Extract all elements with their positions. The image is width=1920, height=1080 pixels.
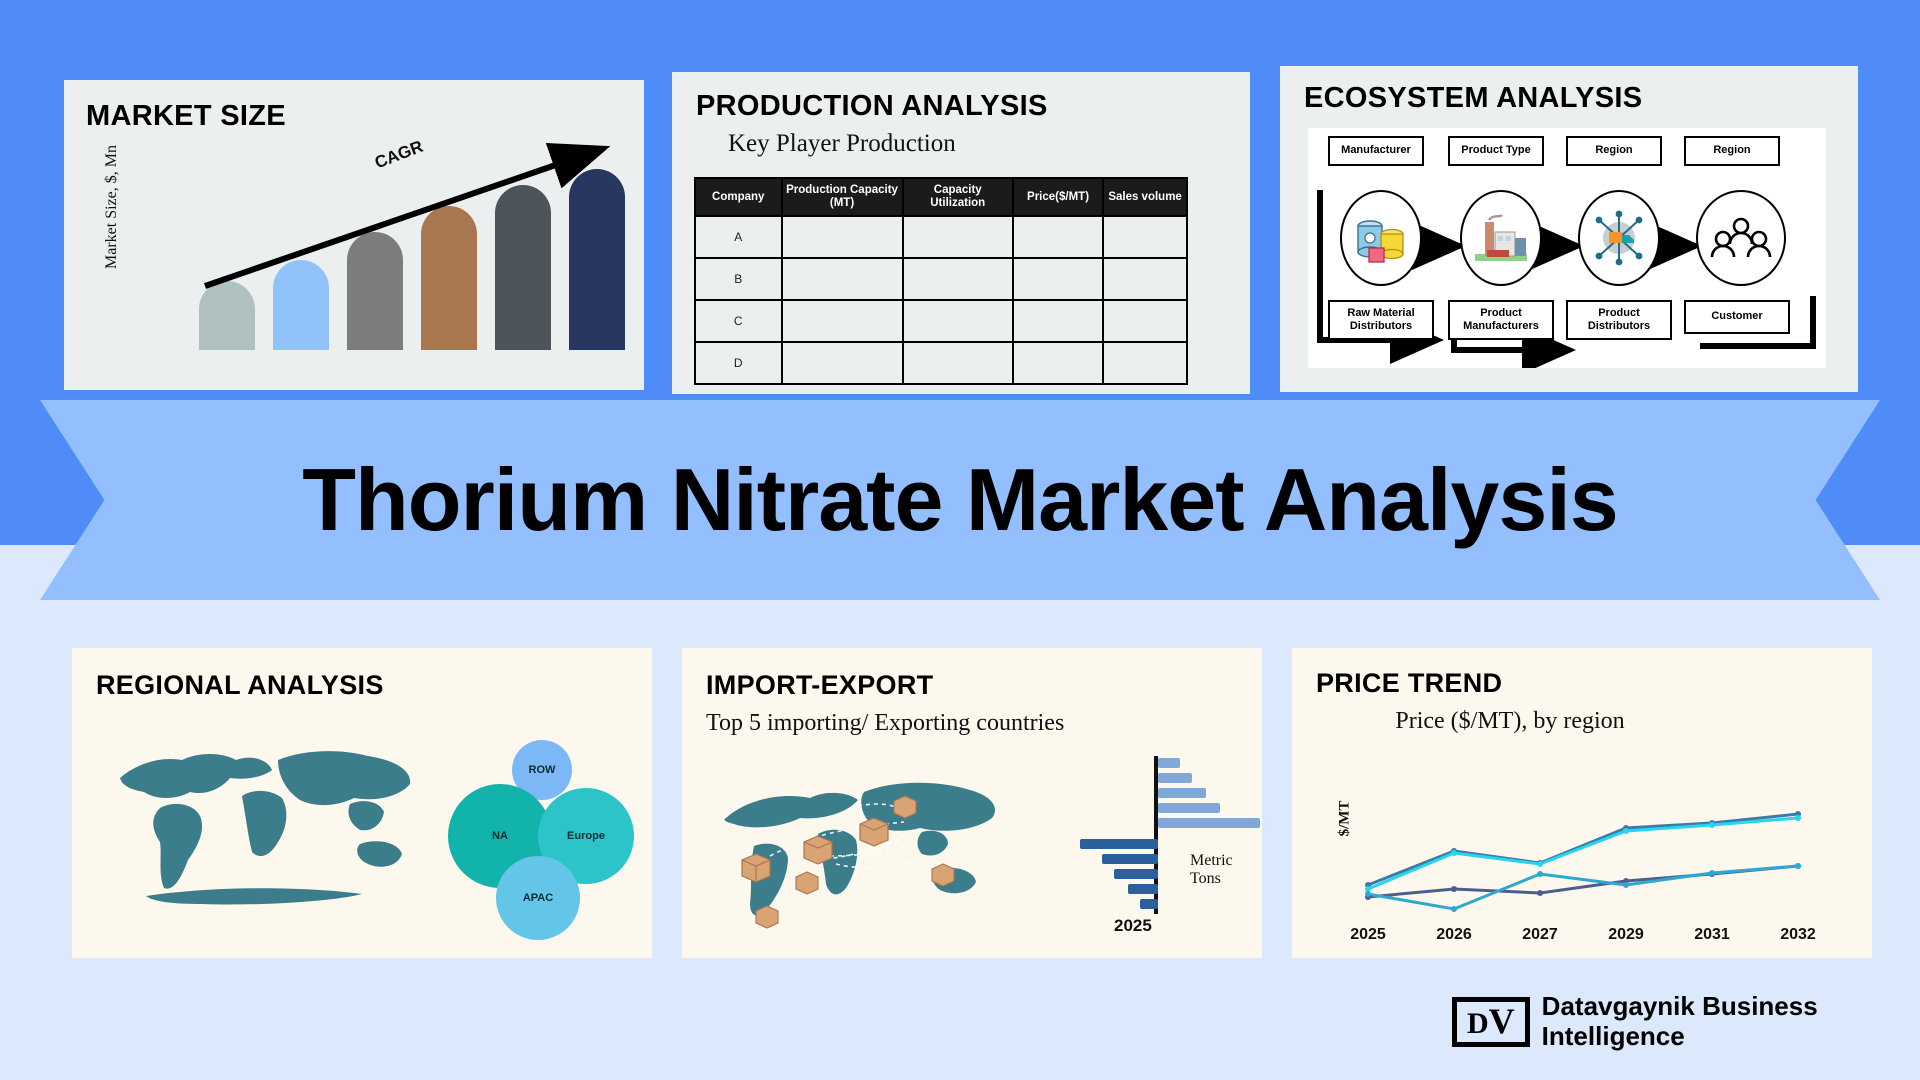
column-header-sales: Sales volume	[1103, 178, 1187, 216]
eco-bottom-label-raw-material-distributors: Raw Material Distributors	[1328, 300, 1434, 340]
price-trend-y-axis-label: $/MT	[1337, 774, 1354, 864]
column-header-price: Price($/MT)	[1013, 178, 1103, 216]
eco-top-label-region-2: Region	[1684, 136, 1780, 166]
cell-utilization	[903, 216, 1013, 258]
cell-company: B	[695, 258, 782, 300]
price-trend-title: PRICE TREND	[1316, 668, 1502, 699]
cell-company: C	[695, 300, 782, 342]
eco-bottom-label-product-manufacturers: Product Manufacturers	[1448, 300, 1554, 340]
distribution-network-icon	[1578, 190, 1660, 286]
market-size-panel: MARKET SIZE Market Size, $, Mn CAGR 2025…	[64, 80, 644, 390]
cell-sales	[1103, 300, 1187, 342]
market-size-plot: CAGR	[199, 150, 629, 350]
cell-company: D	[695, 342, 782, 384]
tornado-bar-export	[1158, 758, 1180, 768]
bubble-label: NA	[492, 830, 508, 842]
logo-letter-d: D	[1467, 1007, 1489, 1040]
table-row: C	[695, 300, 1187, 342]
import-export-tornado-chart: Metric Tons 2025	[1072, 756, 1262, 926]
tornado-bar-import	[1128, 884, 1158, 894]
column-header-utilization: Capacity Utilization	[903, 178, 1013, 216]
page-title: Thorium Nitrate Market Analysis	[302, 449, 1617, 551]
x-tick: 2031	[1677, 926, 1747, 944]
cell-utilization	[903, 342, 1013, 384]
column-header-company: Company	[695, 178, 782, 216]
tornado-bar-import	[1140, 899, 1158, 909]
production-analysis-title: PRODUCTION ANALYSIS	[696, 90, 1048, 123]
eco-top-label-manufacturer: Manufacturer	[1328, 136, 1424, 166]
cell-price	[1013, 258, 1103, 300]
market-size-y-axis-label: Market Size, $, Mn	[103, 117, 121, 297]
logo-letter-v: V	[1489, 1001, 1515, 1041]
eco-bottom-label-product-distributors: Product Distributors	[1566, 300, 1672, 340]
world-map-icon	[102, 726, 442, 926]
x-tick: 2025	[1333, 926, 1403, 944]
bubble-label: Europe	[567, 830, 605, 842]
bubble-label: APAC	[523, 892, 553, 904]
price-trend-panel: PRICE TREND Price ($/MT), by region $/MT…	[1292, 648, 1872, 958]
ecosystem-analysis-title: ECOSYSTEM ANALYSIS	[1304, 82, 1642, 115]
tornado-bar-export	[1158, 773, 1192, 783]
logo-line-1: Datavgaynik Business	[1542, 992, 1818, 1022]
trade-routes-map-icon	[708, 760, 1028, 930]
x-tick: 2027	[1505, 926, 1575, 944]
bubble-label: ROW	[529, 764, 556, 776]
tornado-bar-import	[1102, 854, 1158, 864]
table-row: B	[695, 258, 1187, 300]
table-row: A	[695, 216, 1187, 258]
eco-top-label-region-1: Region	[1566, 136, 1662, 166]
cell-utilization	[903, 300, 1013, 342]
column-header-capacity: Production Capacity (MT)	[782, 178, 903, 216]
logo-mark-dv: DV	[1452, 997, 1530, 1047]
regional-analysis-title: REGIONAL ANALYSIS	[96, 670, 384, 701]
tornado-bar-export	[1158, 788, 1206, 798]
cell-capacity	[782, 216, 903, 258]
cell-sales	[1103, 258, 1187, 300]
ecosystem-analysis-panel: ECOSYSTEM ANALYSIS Manufacturer Product …	[1280, 66, 1858, 392]
tornado-unit-label: Metric Tons	[1190, 852, 1262, 888]
cell-sales	[1103, 342, 1187, 384]
x-tick: 2032	[1763, 926, 1833, 944]
main-title-ribbon: Thorium Nitrate Market Analysis	[40, 400, 1880, 600]
price-trend-line-chart	[1354, 806, 1814, 916]
production-analysis-subtitle: Key Player Production	[728, 130, 956, 158]
import-export-panel: IMPORT-EXPORT Top 5 importing/ Exporting…	[682, 648, 1262, 958]
bubble-apac: APAC	[496, 856, 580, 940]
cagr-arrow-icon	[199, 106, 629, 306]
tornado-year-label: 2025	[1114, 916, 1152, 936]
tornado-bar-import	[1080, 839, 1158, 849]
cell-sales	[1103, 216, 1187, 258]
factory-icon	[1460, 190, 1542, 286]
table-row: D	[695, 342, 1187, 384]
cell-capacity	[782, 300, 903, 342]
tornado-bar-export	[1158, 803, 1220, 813]
logo-line-2: Intelligence	[1542, 1022, 1818, 1052]
cell-capacity	[782, 258, 903, 300]
price-trend-subtitle: Price ($/MT), by region	[1370, 706, 1650, 737]
table-header-row: Company Production Capacity (MT) Capacit…	[695, 178, 1187, 216]
cell-price	[1013, 342, 1103, 384]
ecosystem-diagram: Manufacturer Product Type Region Region	[1308, 128, 1826, 368]
eco-bottom-label-customer: Customer	[1684, 300, 1790, 334]
eco-top-label-product-type: Product Type	[1448, 136, 1544, 166]
customer-group-icon	[1696, 190, 1786, 286]
tornado-bar-export	[1158, 818, 1260, 828]
key-player-production-table: Company Production Capacity (MT) Capacit…	[694, 177, 1188, 385]
logo-wordmark: Datavgaynik Business Intelligence	[1542, 992, 1818, 1052]
cell-capacity	[782, 342, 903, 384]
brand-logo: DV Datavgaynik Business Intelligence	[1452, 992, 1818, 1052]
cell-company: A	[695, 216, 782, 258]
x-tick: 2026	[1419, 926, 1489, 944]
cell-price	[1013, 300, 1103, 342]
barrels-icon	[1340, 190, 1422, 286]
cell-utilization	[903, 258, 1013, 300]
x-tick: 2029	[1591, 926, 1661, 944]
production-analysis-panel: PRODUCTION ANALYSIS Key Player Productio…	[672, 72, 1250, 394]
tornado-bar-import	[1114, 869, 1158, 879]
import-export-subtitle: Top 5 importing/ Exporting countries	[706, 710, 1064, 737]
regional-analysis-panel: REGIONAL ANALYSIS ROW NA Europe APAC	[72, 648, 652, 958]
cell-price	[1013, 216, 1103, 258]
import-export-title: IMPORT-EXPORT	[706, 670, 933, 701]
